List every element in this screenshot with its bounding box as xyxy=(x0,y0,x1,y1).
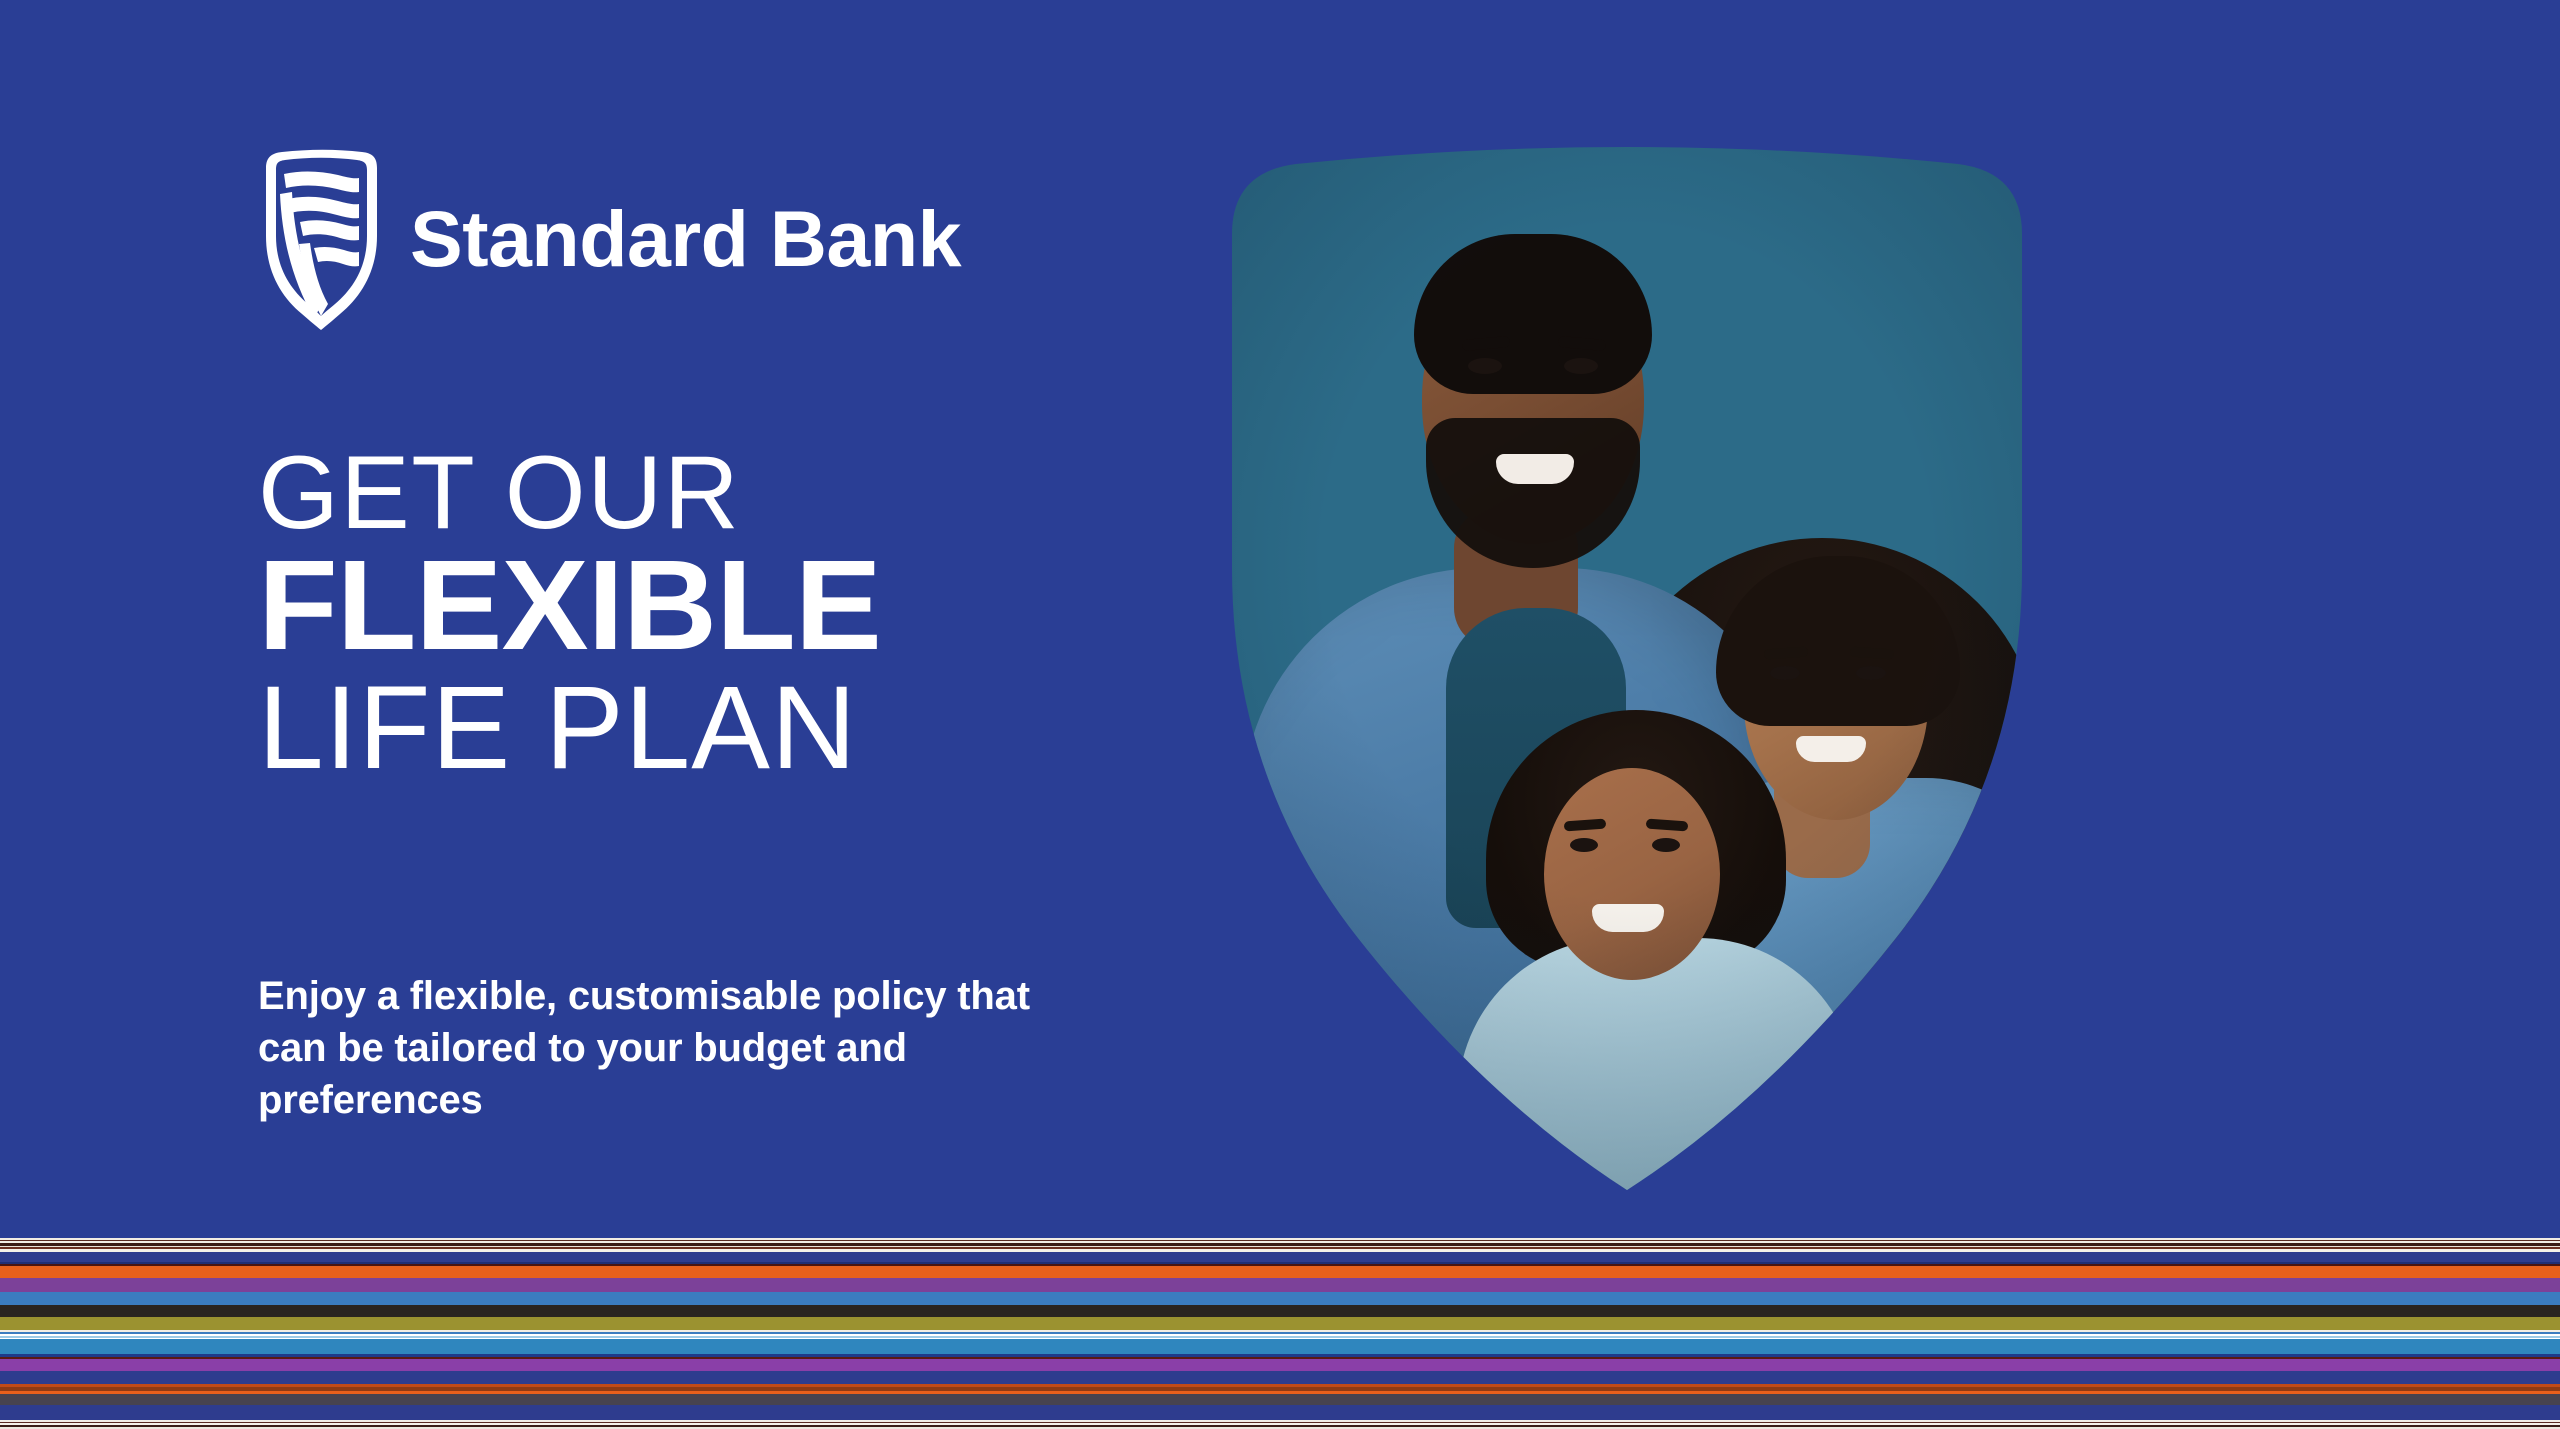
stripe-30 xyxy=(0,1405,2560,1420)
promotional-banner: Standard Bank GET OUR FLEXIBLE LIFE PLAN… xyxy=(0,0,2560,1429)
stripe-13 xyxy=(0,1292,2560,1305)
child-face xyxy=(1544,768,1720,980)
standard-bank-shield-icon xyxy=(258,148,382,334)
stripe-21 xyxy=(0,1339,2560,1354)
headline-line-3: LIFE PLAN xyxy=(258,669,1138,787)
stripe-25 xyxy=(0,1371,2560,1384)
headline-line-2: FLEXIBLE xyxy=(258,541,1156,672)
brand-stripe-band xyxy=(0,1233,2560,1429)
child-smile xyxy=(1592,904,1664,932)
father-smile xyxy=(1496,454,1574,484)
headline-line-1: GET OUR xyxy=(258,443,1138,545)
father-eye-left xyxy=(1468,358,1502,374)
hero-shield-image xyxy=(1196,138,2058,1198)
child-top xyxy=(1458,938,1858,1268)
child-eye-right xyxy=(1652,838,1680,852)
mother-smile xyxy=(1796,736,1866,762)
stripe-12 xyxy=(0,1278,2560,1291)
stripe-8 xyxy=(0,1252,2560,1262)
subcopy-text: Enjoy a flexible, customisable policy th… xyxy=(258,970,1048,1126)
child-eye-left xyxy=(1570,838,1598,852)
content-column: Standard Bank GET OUR FLEXIBLE LIFE PLAN… xyxy=(258,0,1158,1233)
father-eye-right xyxy=(1564,358,1598,374)
stripe-29 xyxy=(0,1394,2560,1405)
brand-logo-lockup[interactable]: Standard Bank xyxy=(258,148,961,334)
headline-block: GET OUR FLEXIBLE LIFE PLAN xyxy=(258,443,1138,787)
mother-eye-right xyxy=(1856,666,1886,680)
brand-wordmark: Standard Bank xyxy=(410,199,961,284)
father-hair xyxy=(1414,234,1652,394)
shield-clip-mask xyxy=(1196,138,2058,1198)
stripe-15 xyxy=(0,1317,2560,1330)
stripe-14 xyxy=(0,1305,2560,1317)
mother-eye-left xyxy=(1770,666,1800,680)
family-portrait-photo xyxy=(1196,138,2058,1198)
stripe-11 xyxy=(0,1266,2560,1278)
stripe-24 xyxy=(0,1359,2560,1371)
